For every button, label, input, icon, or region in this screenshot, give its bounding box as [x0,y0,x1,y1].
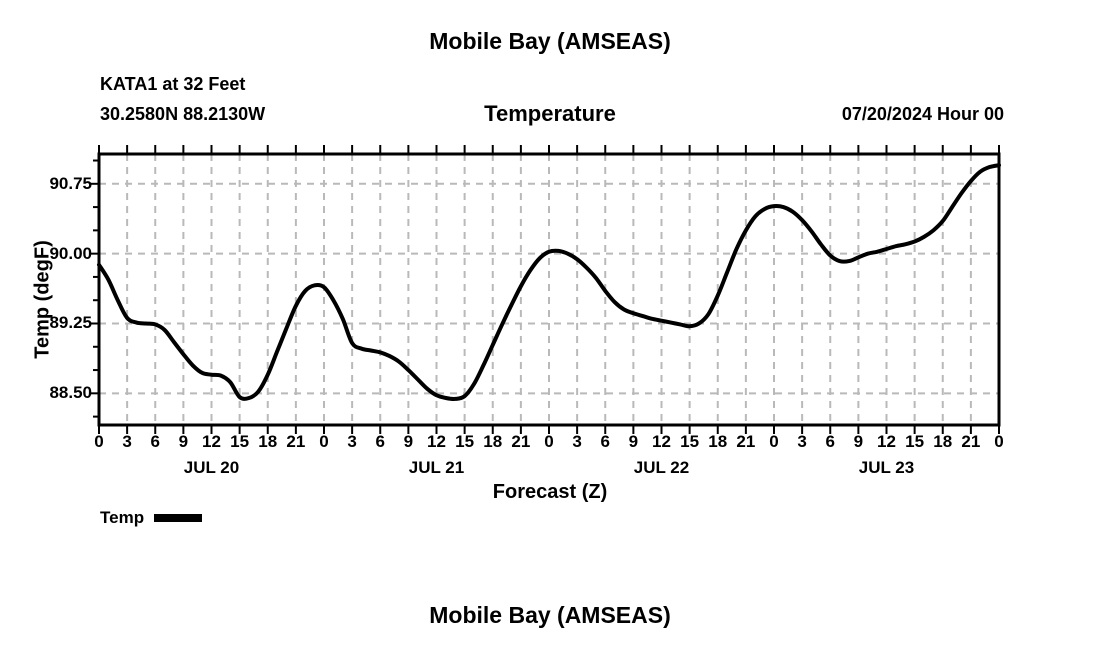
chart-plot-area [0,0,1100,650]
axis-ticks [90,145,999,434]
chart-legend: Temp [100,508,202,528]
legend-swatch-temp [154,514,202,522]
footer-title: Mobile Bay (AMSEAS) [0,602,1100,629]
chart-page: Mobile Bay (AMSEAS) KATA1 at 32 Feet 30.… [0,0,1100,650]
legend-label-temp: Temp [100,508,144,528]
